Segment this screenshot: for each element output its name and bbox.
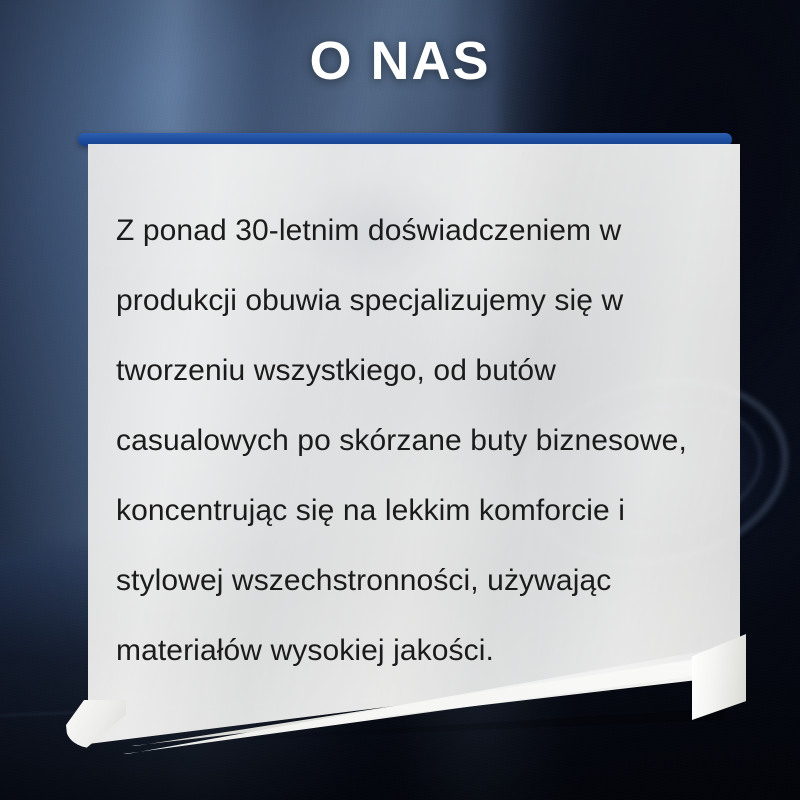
paragraph-line: produkcji obuwia specjalizujemy się w [116, 266, 716, 336]
about-us-paragraph: Z ponad 30-letnim doświadczeniem w produ… [116, 196, 716, 686]
paragraph-line: materiałów wysokiej jakości. [116, 616, 716, 686]
paragraph-line: stylowej wszechstronności, używając [116, 546, 716, 616]
paragraph-line: Z ponad 30-letnim doświadczeniem w [116, 196, 716, 266]
paragraph-line: casualowych po skórzane buty biznesowe, [116, 406, 716, 476]
about-us-banner: O NAS Z ponad 30-letnim doświadczeniem w… [0, 0, 800, 800]
paragraph-line: koncentrując się na lekkim komforcie i [116, 476, 716, 546]
page-title: O NAS [0, 34, 800, 88]
paragraph-line: tworzeniu wszystkiego, od butów [116, 336, 716, 406]
